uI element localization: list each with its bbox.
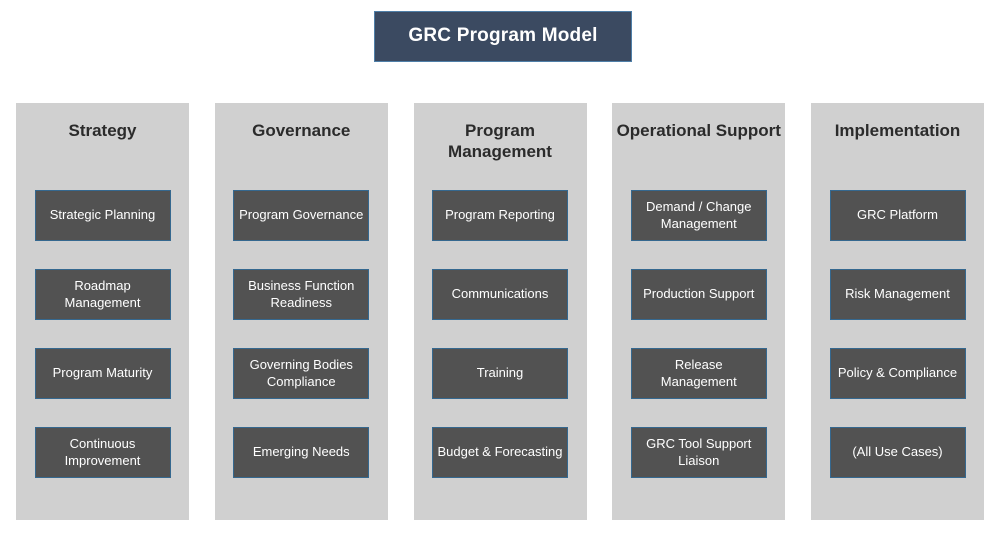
column-container: Strategy Strategic Planning Roadmap Mana… xyxy=(16,103,984,520)
node-release-management[interactable]: Release Management xyxy=(631,348,767,399)
node-label: GRC Tool Support Liaison xyxy=(632,436,766,469)
node-program-governance[interactable]: Program Governance xyxy=(233,190,369,241)
diagram-title-text: GRC Program Model xyxy=(408,26,597,47)
node-label: Program Reporting xyxy=(441,207,559,223)
node-budget-and-forecasting[interactable]: Budget & Forecasting xyxy=(432,427,568,478)
node-governing-bodies-compliance[interactable]: Governing Bodies Compliance xyxy=(233,348,369,399)
node-training[interactable]: Training xyxy=(432,348,568,399)
node-label: Production Support xyxy=(639,286,758,302)
node-label: Continuous Improvement xyxy=(36,436,170,469)
column-header-program-management: Program Management xyxy=(414,103,587,190)
column-items-operational-support: Demand / Change Management Production Su… xyxy=(612,190,785,506)
column-header-implementation: Implementation xyxy=(811,103,984,190)
column-items-strategy: Strategic Planning Roadmap Management Pr… xyxy=(16,190,189,506)
column-program-management: Program Management Program Reporting Com… xyxy=(414,103,587,520)
node-label: Roadmap Management xyxy=(36,278,170,311)
column-operational-support: Operational Support Demand / Change Mana… xyxy=(612,103,785,520)
column-items-governance: Program Governance Business Function Rea… xyxy=(215,190,388,506)
node-emerging-needs[interactable]: Emerging Needs xyxy=(233,427,369,478)
node-label: Release Management xyxy=(632,357,766,390)
node-all-use-cases[interactable]: (All Use Cases) xyxy=(830,427,966,478)
column-header-operational-support: Operational Support xyxy=(612,103,785,190)
node-label: Business Function Readiness xyxy=(234,278,368,311)
node-roadmap-management[interactable]: Roadmap Management xyxy=(35,269,171,320)
node-continuous-improvement[interactable]: Continuous Improvement xyxy=(35,427,171,478)
node-grc-platform[interactable]: GRC Platform xyxy=(830,190,966,241)
node-label: Budget & Forecasting xyxy=(433,444,566,460)
column-items-implementation: GRC Platform Risk Management Policy & Co… xyxy=(811,190,984,506)
node-communications[interactable]: Communications xyxy=(432,269,568,320)
node-program-maturity[interactable]: Program Maturity xyxy=(35,348,171,399)
node-label: Program Maturity xyxy=(49,365,157,381)
diagram-title-banner: GRC Program Model xyxy=(374,11,632,62)
grc-program-model-diagram: GRC Program Model Strategy Strategic Pla… xyxy=(0,0,1000,534)
node-label: Program Governance xyxy=(235,207,367,223)
node-label: Strategic Planning xyxy=(46,207,160,223)
node-production-support[interactable]: Production Support xyxy=(631,269,767,320)
column-implementation: Implementation GRC Platform Risk Managem… xyxy=(811,103,984,520)
node-label: GRC Platform xyxy=(853,207,942,223)
node-label: Policy & Compliance xyxy=(834,365,961,381)
node-business-function-readiness[interactable]: Business Function Readiness xyxy=(233,269,369,320)
node-label: Governing Bodies Compliance xyxy=(234,357,368,390)
column-header-governance: Governance xyxy=(215,103,388,190)
node-grc-tool-support-liaison[interactable]: GRC Tool Support Liaison xyxy=(631,427,767,478)
node-label: Communications xyxy=(448,286,553,302)
column-items-program-management: Program Reporting Communications Trainin… xyxy=(414,190,587,506)
column-governance: Governance Program Governance Business F… xyxy=(215,103,388,520)
node-policy-and-compliance[interactable]: Policy & Compliance xyxy=(830,348,966,399)
node-label: Training xyxy=(473,365,527,381)
node-label: Demand / Change Management xyxy=(632,199,766,232)
column-strategy: Strategy Strategic Planning Roadmap Mana… xyxy=(16,103,189,520)
node-label: Emerging Needs xyxy=(249,444,354,460)
column-header-strategy: Strategy xyxy=(16,103,189,190)
node-label: Risk Management xyxy=(841,286,954,302)
node-demand-change-management[interactable]: Demand / Change Management xyxy=(631,190,767,241)
node-strategic-planning[interactable]: Strategic Planning xyxy=(35,190,171,241)
node-program-reporting[interactable]: Program Reporting xyxy=(432,190,568,241)
node-risk-management[interactable]: Risk Management xyxy=(830,269,966,320)
node-label: (All Use Cases) xyxy=(848,444,946,460)
